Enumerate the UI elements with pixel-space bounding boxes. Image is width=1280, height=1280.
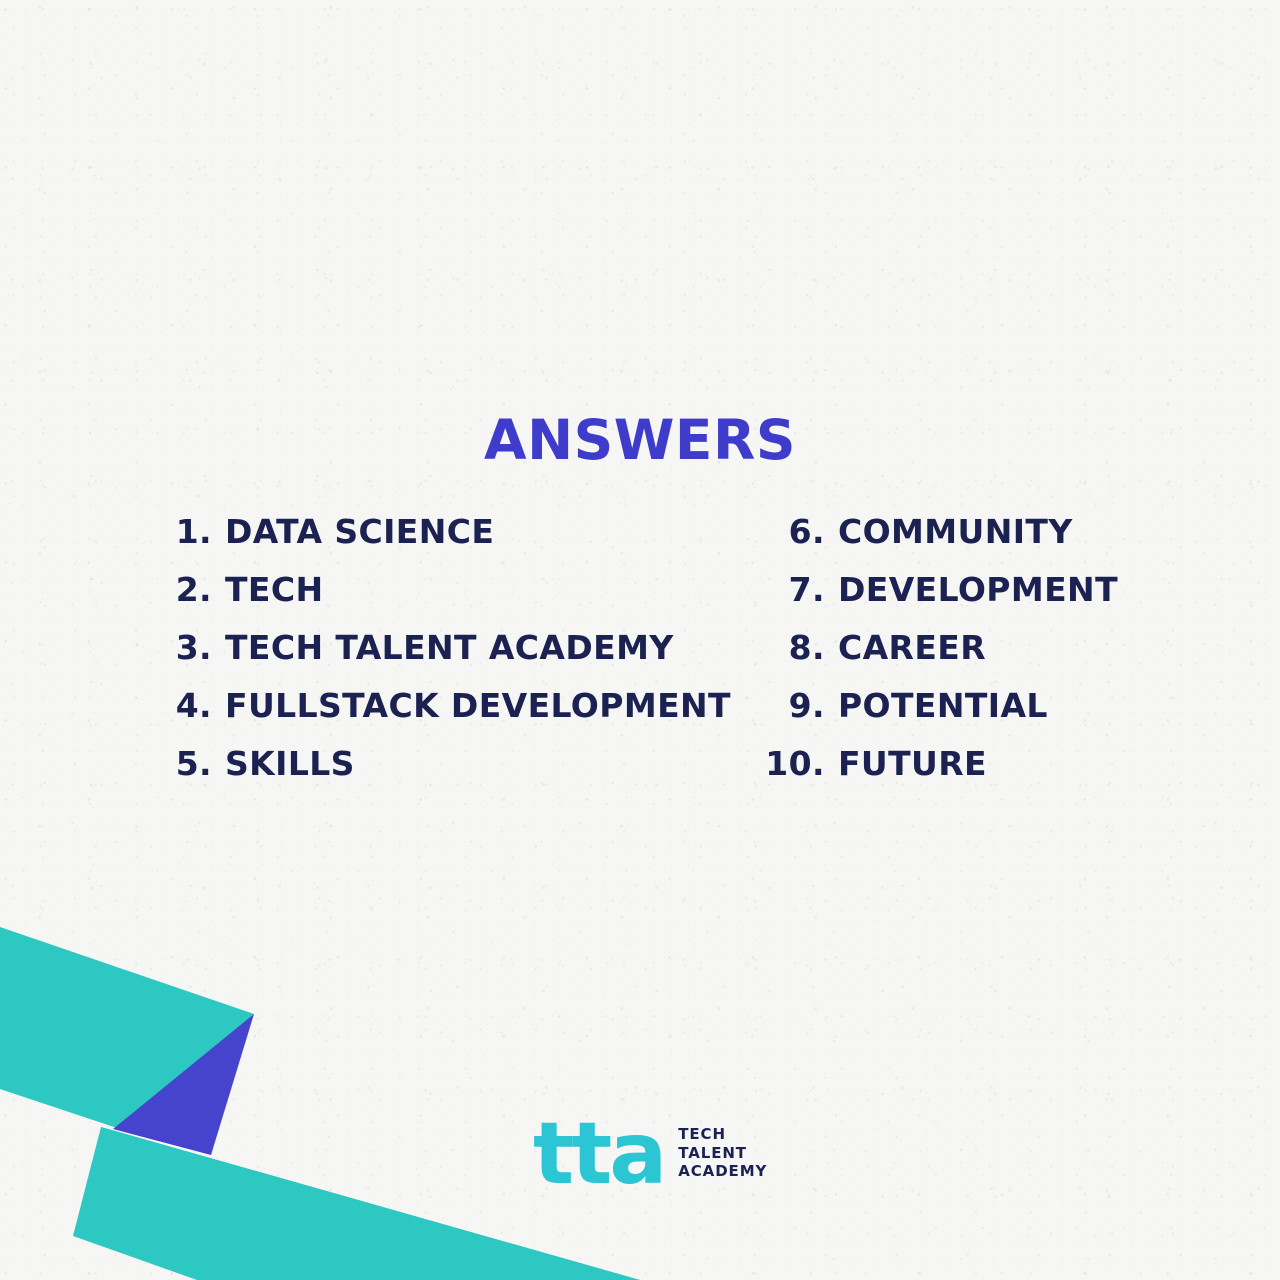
answer-label: POTENTIAL xyxy=(838,686,1048,725)
answer-item-3: 3. TECH TALENT ACADEMY xyxy=(150,628,731,686)
answer-item-6: 6. COMMUNITY xyxy=(763,512,1118,570)
answers-column-left: 1. DATA SCIENCE 2. TECH 3. TECH TALENT A… xyxy=(150,512,731,802)
answer-label: FUTURE xyxy=(838,744,987,783)
answer-label: SKILLS xyxy=(225,744,355,783)
answer-number: 6. xyxy=(763,512,825,551)
answer-number: 8. xyxy=(763,628,825,667)
answer-label: CAREER xyxy=(838,628,986,667)
page-title: ANSWERS xyxy=(0,408,1280,472)
answer-label: COMMUNITY xyxy=(838,512,1073,551)
answer-item-5: 5. SKILLS xyxy=(150,744,731,802)
answer-label: FULLSTACK DEVELOPMENT xyxy=(225,686,731,725)
answer-label: TECH xyxy=(225,570,324,609)
answer-item-4: 4. FULLSTACK DEVELOPMENT xyxy=(150,686,731,744)
answer-number: 1. xyxy=(150,512,212,551)
ribbon-fold-triangle xyxy=(113,1014,254,1155)
answer-number: 7. xyxy=(763,570,825,609)
brand-logo: tta TECH TALENT ACADEMY xyxy=(533,1124,767,1186)
answer-item-9: 9. POTENTIAL xyxy=(763,686,1118,744)
answer-item-10: 10. FUTURE xyxy=(763,744,1118,802)
brand-line-2: TALENT xyxy=(678,1145,767,1163)
answer-item-1: 1. DATA SCIENCE xyxy=(150,512,731,570)
ribbon-band-top xyxy=(0,927,254,1130)
answers-list: 1. DATA SCIENCE 2. TECH 3. TECH TALENT A… xyxy=(150,512,1130,802)
answer-number: 2. xyxy=(150,570,212,609)
answer-item-8: 8. CAREER xyxy=(763,628,1118,686)
answer-item-7: 7. DEVELOPMENT xyxy=(763,570,1118,628)
answer-label: DATA SCIENCE xyxy=(225,512,494,551)
answer-number: 3. xyxy=(150,628,212,667)
answers-column-right: 6. COMMUNITY 7. DEVELOPMENT 8. CAREER 9.… xyxy=(763,512,1118,802)
brand-wordmark: TECH TALENT ACADEMY xyxy=(678,1126,767,1184)
answer-number: 5. xyxy=(150,744,212,783)
poster-canvas: ANSWERS 1. DATA SCIENCE 2. TECH 3. TECH … xyxy=(0,0,1280,1280)
brand-line-1: TECH xyxy=(678,1126,767,1144)
answer-number: 9. xyxy=(763,686,825,725)
answer-label: TECH TALENT ACADEMY xyxy=(225,628,674,667)
tta-logomark: tta xyxy=(533,1124,664,1186)
answer-label: DEVELOPMENT xyxy=(838,570,1118,609)
brand-line-3: ACADEMY xyxy=(678,1163,767,1181)
answer-item-2: 2. TECH xyxy=(150,570,731,628)
answer-number: 4. xyxy=(150,686,212,725)
answer-number: 10. xyxy=(763,744,825,783)
